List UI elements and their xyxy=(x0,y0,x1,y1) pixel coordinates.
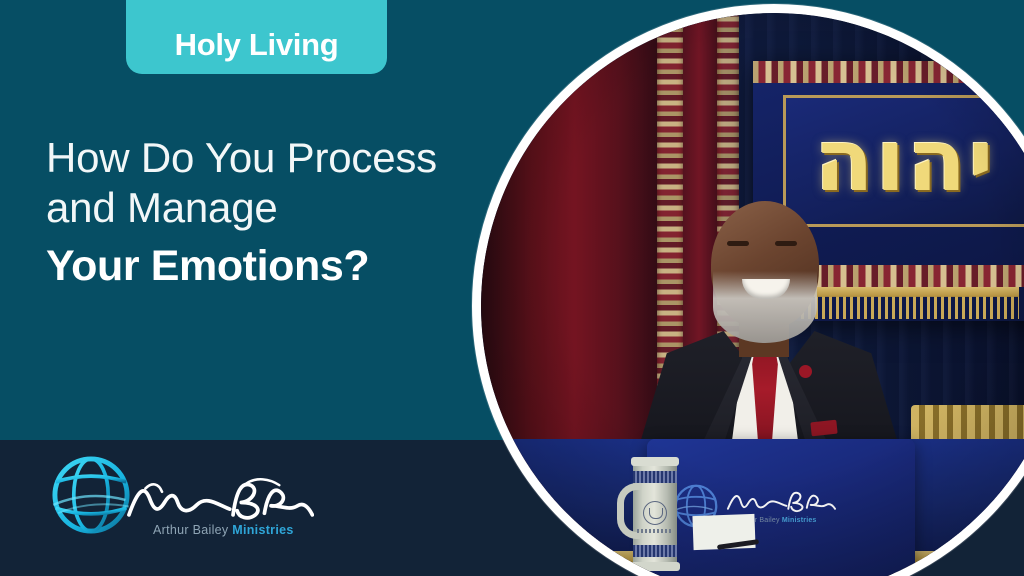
podium-brand-suffix: Ministries xyxy=(782,517,817,524)
signature-mark xyxy=(124,472,314,528)
ceramic-stein xyxy=(625,457,685,571)
eye-left xyxy=(727,241,749,246)
stein-lip xyxy=(631,457,679,466)
page-title: How Do You Process and Manage Your Emoti… xyxy=(46,133,516,294)
stein-band-top xyxy=(633,471,677,483)
stein-foot xyxy=(630,562,680,571)
podium-logo-banner: Arthur Bailey Ministries xyxy=(647,439,915,576)
brand-name: Arthur Bailey xyxy=(153,523,228,537)
podium: Arthur Bailey Ministries xyxy=(481,441,1024,576)
pocket-square xyxy=(810,420,837,437)
globe-sphere-icon xyxy=(50,452,132,538)
lapel-pin xyxy=(799,365,812,378)
speaker-photo: יהוה xyxy=(481,13,1024,576)
brand-wordmark: Arthur Bailey Ministries xyxy=(153,523,294,537)
banner-braid-top xyxy=(753,61,1024,83)
signature-mark xyxy=(725,485,837,517)
menorah-emblem-icon xyxy=(643,501,667,525)
stein-caption xyxy=(637,529,673,533)
brand-logo[interactable]: Arthur Bailey Ministries xyxy=(50,450,350,560)
headline-line-2: and Manage xyxy=(46,183,516,233)
video-thumbnail: יהוה xyxy=(0,0,1024,576)
headline-emphasis: Your Emotions? xyxy=(46,240,516,294)
stein-band-bottom xyxy=(633,545,677,557)
eye-right xyxy=(775,241,797,246)
category-badge-label: Holy Living xyxy=(175,29,339,60)
headline-line-1: How Do You Process xyxy=(46,133,516,183)
category-badge[interactable]: Holy Living xyxy=(126,0,387,74)
speaker-photo-circle: יהוה xyxy=(472,4,1024,576)
brand-suffix: Ministries xyxy=(232,523,293,537)
